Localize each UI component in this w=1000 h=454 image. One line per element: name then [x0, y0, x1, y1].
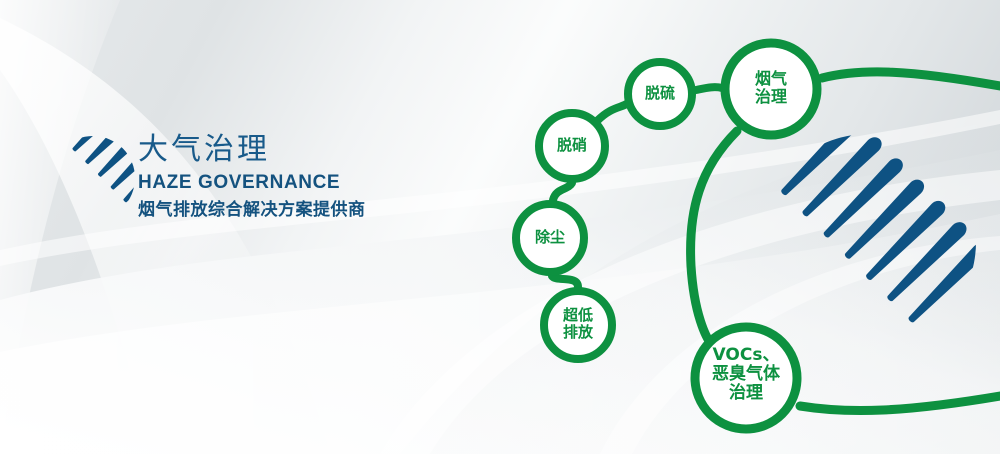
node-ultra-low-circle — [544, 291, 612, 359]
link-desulfurization-fluegas — [696, 87, 722, 90]
link-loop-top-right — [822, 72, 1000, 86]
link-ultralow-dust — [552, 276, 578, 287]
process-diagram — [0, 0, 1000, 454]
node-denitrification-circle — [539, 113, 605, 179]
headline-block: 大气治理 HAZE GOVERNANCE 烟气排放综合解决方案提供商 — [138, 131, 366, 223]
link-loop-bottom-right — [800, 396, 1000, 411]
node-desulfurization-circle — [628, 62, 692, 126]
subtitle-english: HAZE GOVERNANCE — [138, 170, 366, 196]
node-vocs-circle — [695, 327, 797, 429]
link-dust-denitrification — [553, 183, 572, 200]
link-denitrification-desulfurization — [597, 103, 628, 121]
subtitle-chinese: 烟气排放综合解决方案提供商 — [138, 198, 366, 223]
page-title: 大气治理 — [138, 131, 366, 169]
link-loop-left — [691, 131, 737, 345]
node-dust-removal-circle — [516, 204, 584, 272]
node-flue-gas-circle — [725, 43, 817, 135]
banner-root: 大气治理 HAZE GOVERNANCE 烟气排放综合解决方案提供商 脱硫 脱硝… — [0, 0, 1000, 454]
